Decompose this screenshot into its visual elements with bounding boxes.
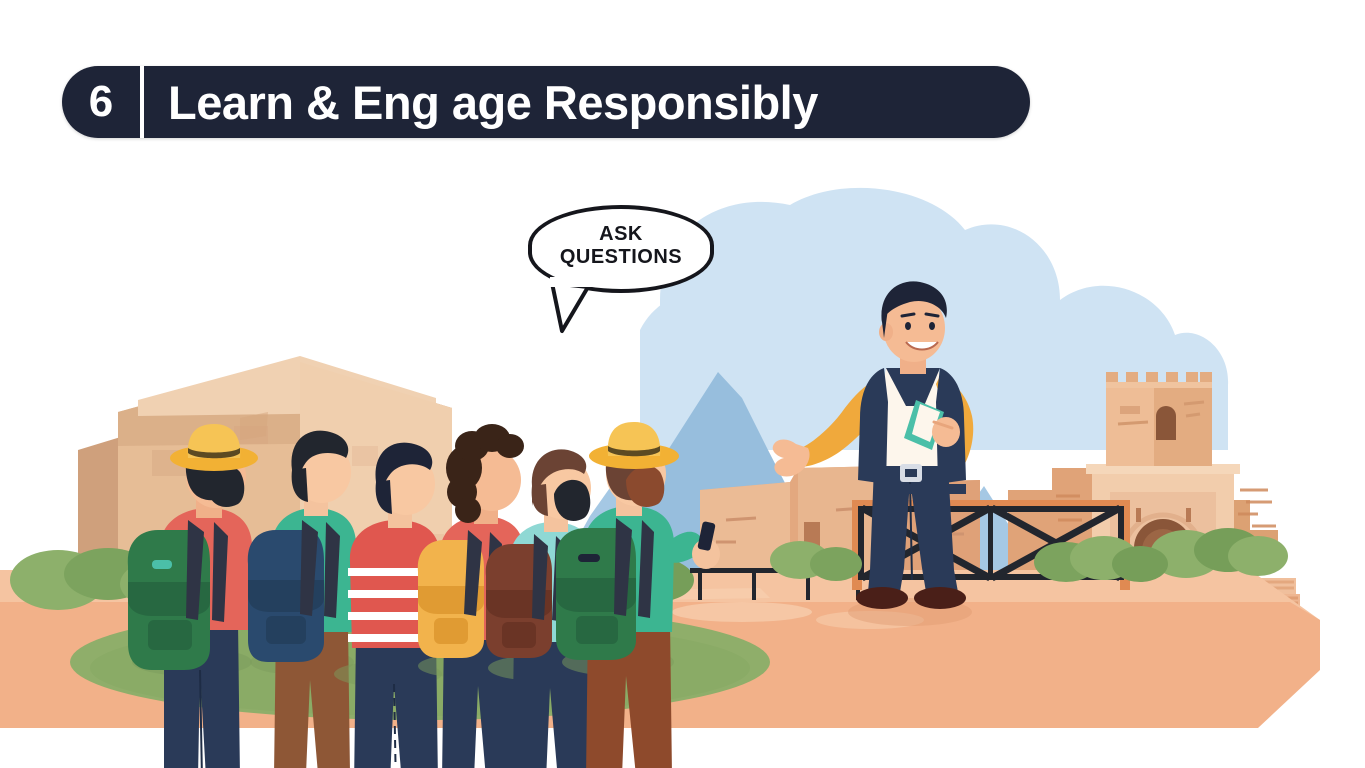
speech-bubble: ASK QUESTIONS — [528, 205, 718, 310]
speech-bubble-line-1: ASK — [528, 223, 714, 246]
speech-bubble-text: ASK QUESTIONS — [528, 223, 714, 269]
title-badge: 6 Learn & Eng age Responsibly — [62, 66, 1030, 138]
page-title: Learn & Eng age Responsibly — [144, 79, 818, 126]
speech-bubble-tail — [548, 277, 618, 337]
step-number: 6 — [62, 80, 140, 124]
illustration-page: 6 Learn & Eng age Responsibly — [0, 0, 1365, 768]
speech-bubble-line-2: QUESTIONS — [528, 246, 714, 269]
